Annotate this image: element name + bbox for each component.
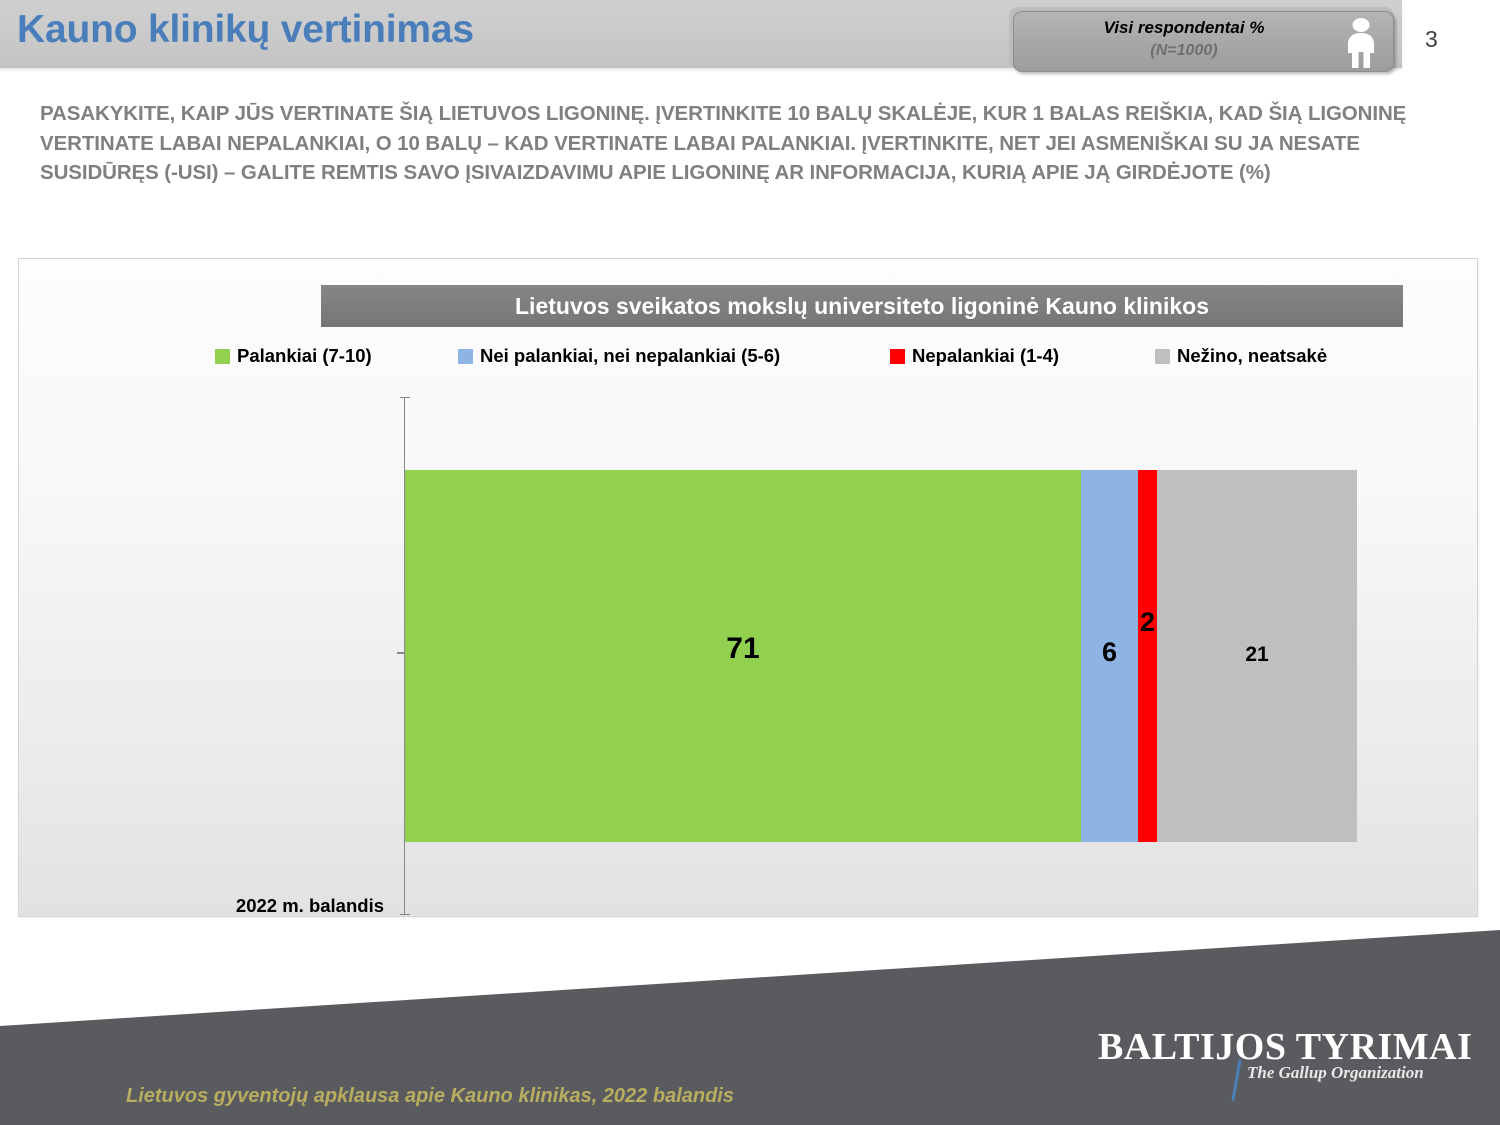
- category-label: 2022 m. balandis: [189, 895, 384, 917]
- axis-cap-top: [400, 397, 410, 398]
- bar-segment[interactable]: 71: [405, 470, 1081, 842]
- bar-segment-value: 6: [1081, 637, 1138, 668]
- bar-segment-value: 21: [1157, 643, 1357, 667]
- slide-number: 3: [1425, 26, 1438, 53]
- respondents-badge[interactable]: Visi respondentai % (N=1000): [1013, 11, 1394, 72]
- chart-container: Lietuvos sveikatos mokslų universiteto l…: [18, 258, 1478, 917]
- stacked-bar[interactable]: 716221: [405, 470, 1357, 842]
- page-title: Kauno klinikų vertinimas: [17, 8, 474, 52]
- respondents-badge-text: Visi respondentai % (N=1000): [1014, 16, 1354, 62]
- slide-root: Kauno klinikų vertinimas Visi respondent…: [0, 0, 1500, 1125]
- axis-cap-bottom: [400, 914, 410, 915]
- plot-area: 2022 m. balandis 716221: [19, 259, 1479, 918]
- bar-segment[interactable]: 21: [1157, 470, 1357, 842]
- bar-segment-value: 71: [405, 632, 1081, 666]
- respondents-label: Visi respondentai %: [1014, 16, 1354, 40]
- brand-logo: BALTIJOS TYRIMAI The Gallup Organization: [1098, 1025, 1448, 1105]
- bar-segment[interactable]: 6: [1081, 470, 1138, 842]
- person-icon: [1341, 17, 1381, 69]
- bar-segment-value: 2: [1138, 607, 1157, 638]
- bar-segment[interactable]: 2: [1138, 470, 1157, 842]
- respondents-count: (N=1000): [1014, 40, 1354, 62]
- brand-logo-tagline: The Gallup Organization: [1247, 1063, 1424, 1083]
- question-text: PASAKYKITE, KAIP JŪS VERTINATE ŠIĄ LIETU…: [40, 99, 1440, 188]
- footer-caption: Lietuvos gyventojų apklausa apie Kauno k…: [126, 1085, 734, 1108]
